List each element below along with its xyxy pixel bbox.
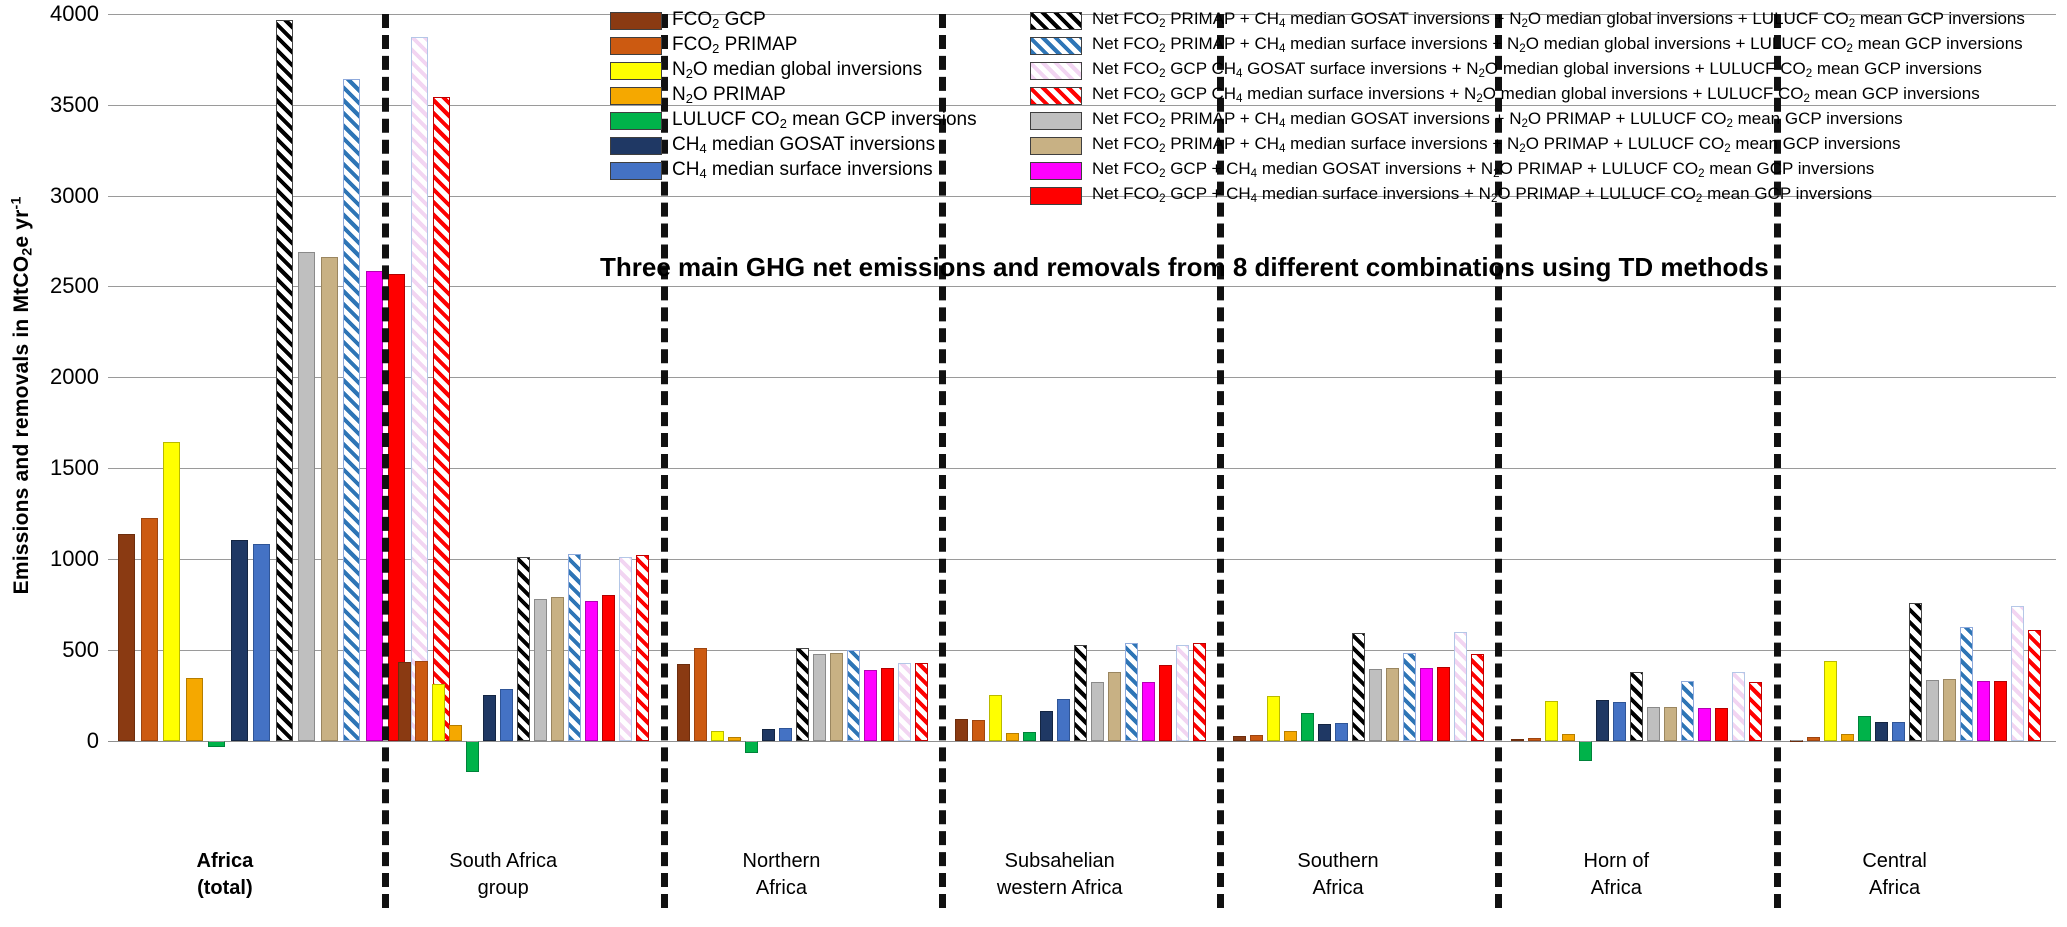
bar[interactable] bbox=[989, 695, 1002, 740]
bar[interactable] bbox=[915, 663, 928, 741]
bar[interactable] bbox=[1732, 672, 1745, 740]
legend-swatch-net4 bbox=[1030, 87, 1082, 105]
y-axis-title-sup: -1 bbox=[9, 196, 25, 209]
x-axis-label-5: Horn ofAfrica bbox=[1584, 848, 1650, 902]
bar[interactable] bbox=[677, 664, 690, 740]
legend-net-item-net3[interactable]: Net FCO2 GCP CH4 GOSAT surface inversion… bbox=[1030, 58, 2025, 83]
legend-net-item-net5[interactable]: Net FCO2 PRIMAP + CH4 median GOSAT inver… bbox=[1030, 108, 2025, 133]
bar[interactable] bbox=[1630, 672, 1643, 741]
bar[interactable] bbox=[847, 650, 860, 741]
bar[interactable] bbox=[1284, 731, 1297, 741]
y-tick-3500: 3500 bbox=[50, 92, 99, 118]
x-axis-label-4: SouthernAfrica bbox=[1297, 848, 1378, 902]
bar[interactable] bbox=[449, 725, 462, 740]
bar[interactable] bbox=[1233, 736, 1246, 741]
bar[interactable] bbox=[2011, 606, 2024, 740]
bar[interactable] bbox=[1176, 645, 1189, 740]
bar[interactable] bbox=[813, 654, 826, 740]
y-axis-title-text: Emissions and removals in MtCO bbox=[10, 255, 33, 594]
bar[interactable] bbox=[864, 670, 877, 741]
legend-label-net8: Net FCO2 GCP + CH4 median surface invers… bbox=[1092, 185, 1872, 205]
bar[interactable] bbox=[1074, 645, 1087, 740]
bar[interactable] bbox=[366, 271, 383, 741]
y-tick-0: 0 bbox=[87, 728, 99, 754]
legend-swatch-net7 bbox=[1030, 162, 1082, 180]
bar[interactable] bbox=[186, 678, 203, 741]
legend-label-net7: Net FCO2 GCP + CH4 median GOSAT inversio… bbox=[1092, 160, 1874, 180]
legend-primary-item-lulucf[interactable]: LULUCF CO2 mean GCP inversions bbox=[610, 108, 977, 133]
legend-swatch-lulucf bbox=[610, 112, 662, 130]
legend-label-net4: Net FCO2 GCP CH4 median surface inversio… bbox=[1092, 85, 1980, 105]
bar[interactable] bbox=[432, 684, 445, 740]
bar[interactable] bbox=[1715, 708, 1728, 741]
y-axis-title: Emissions and removals in MtCO2e yr-1 bbox=[2, 0, 42, 790]
legend-primary-item-n2oglobal[interactable]: N2O median global inversions bbox=[610, 58, 977, 83]
x-axis-label-2: NorthernAfrica bbox=[743, 848, 821, 902]
bar[interactable] bbox=[1250, 735, 1263, 740]
bar[interactable] bbox=[1528, 738, 1541, 741]
legend-primary-item-fco2gcp[interactable]: FCO2 GCP bbox=[610, 8, 977, 33]
legend-label-net6: Net FCO2 PRIMAP + CH4 median surface inv… bbox=[1092, 135, 1900, 155]
bar[interactable] bbox=[1909, 603, 1922, 740]
bar[interactable] bbox=[466, 741, 479, 773]
legend-net-combinations: Net FCO2 PRIMAP + CH4 median GOSAT inver… bbox=[1030, 8, 2025, 208]
legend-net-item-net4[interactable]: Net FCO2 GCP CH4 median surface inversio… bbox=[1030, 83, 2025, 108]
bar[interactable] bbox=[398, 662, 411, 741]
bar[interactable] bbox=[1926, 680, 1939, 741]
bar[interactable] bbox=[972, 720, 985, 741]
bar[interactable] bbox=[1824, 661, 1837, 741]
legend-swatch-n2oglobal bbox=[610, 62, 662, 80]
bar[interactable] bbox=[141, 518, 158, 741]
bar[interactable] bbox=[1875, 722, 1888, 741]
bar[interactable] bbox=[1108, 672, 1121, 741]
legend-swatch-ch4gosat bbox=[610, 137, 662, 155]
legend-label-ch4surface: CH4 median surface inversions bbox=[672, 160, 933, 181]
legend-swatch-net3 bbox=[1030, 62, 1082, 80]
bar[interactable] bbox=[298, 252, 315, 741]
bar[interactable] bbox=[1579, 741, 1592, 761]
bar[interactable] bbox=[1681, 681, 1694, 741]
y-tick-500: 500 bbox=[62, 637, 99, 663]
bar[interactable] bbox=[1471, 654, 1484, 740]
bar[interactable] bbox=[253, 544, 270, 740]
bar[interactable] bbox=[1301, 713, 1314, 740]
y-tick-2000: 2000 bbox=[50, 364, 99, 390]
legend-net-item-net8[interactable]: Net FCO2 GCP + CH4 median surface invers… bbox=[1030, 183, 2025, 208]
legend-primary-item-ch4surface[interactable]: CH4 median surface inversions bbox=[610, 158, 977, 183]
bar-group-0 bbox=[108, 14, 386, 786]
bar[interactable] bbox=[1369, 669, 1382, 741]
bar[interactable] bbox=[1352, 633, 1365, 741]
x-axis-labels: Africa(total)South AfricagroupNorthernAf… bbox=[108, 848, 2056, 918]
bar[interactable] bbox=[1664, 707, 1677, 741]
legend-net-item-net6[interactable]: Net FCO2 PRIMAP + CH4 median surface inv… bbox=[1030, 133, 2025, 158]
bar[interactable] bbox=[1807, 737, 1820, 741]
legend-label-fco2gcp: FCO2 GCP bbox=[672, 10, 766, 31]
bar[interactable] bbox=[1057, 699, 1070, 741]
group-divider-1 bbox=[382, 14, 389, 908]
legend-label-net2: Net FCO2 PRIMAP + CH4 median surface inv… bbox=[1092, 35, 2023, 55]
legend-swatch-net8 bbox=[1030, 187, 1082, 205]
bar[interactable] bbox=[585, 601, 598, 741]
bar[interactable] bbox=[1892, 722, 1905, 740]
legend-swatch-net1 bbox=[1030, 12, 1082, 30]
bar[interactable] bbox=[636, 555, 649, 740]
bar[interactable] bbox=[1023, 732, 1036, 741]
bar[interactable] bbox=[517, 557, 530, 740]
y-axis-title-mid: e yr bbox=[10, 209, 33, 247]
bar[interactable] bbox=[343, 79, 360, 740]
legend-swatch-n2oprimap bbox=[610, 87, 662, 105]
legend-label-lulucf: LULUCF CO2 mean GCP inversions bbox=[672, 110, 977, 131]
bar[interactable] bbox=[1698, 708, 1711, 741]
bar[interactable] bbox=[1318, 724, 1331, 740]
bar[interactable] bbox=[1040, 711, 1053, 741]
legend-primary-item-ch4gosat[interactable]: CH4 median GOSAT inversions bbox=[610, 133, 977, 158]
bar[interactable] bbox=[1943, 679, 1956, 741]
bar[interactable] bbox=[1193, 643, 1206, 740]
bar[interactable] bbox=[1790, 740, 1803, 742]
legend-net-item-net1[interactable]: Net FCO2 PRIMAP + CH4 median GOSAT inver… bbox=[1030, 8, 2025, 33]
legend-swatch-net5 bbox=[1030, 112, 1082, 130]
bar[interactable] bbox=[163, 442, 180, 741]
legend-net-item-net2[interactable]: Net FCO2 PRIMAP + CH4 median surface inv… bbox=[1030, 33, 2025, 58]
bar[interactable] bbox=[1749, 682, 1762, 741]
bar[interactable] bbox=[1335, 723, 1348, 740]
bar[interactable] bbox=[1091, 682, 1104, 740]
bar[interactable] bbox=[118, 534, 135, 740]
legend-primary-item-fco2primap[interactable]: FCO2 PRIMAP bbox=[610, 33, 977, 58]
bar[interactable] bbox=[728, 737, 741, 741]
bar[interactable] bbox=[1386, 668, 1399, 741]
legend-swatch-ch4surface bbox=[610, 162, 662, 180]
bar[interactable] bbox=[1647, 707, 1660, 741]
bar[interactable] bbox=[2028, 630, 2041, 741]
bar[interactable] bbox=[1159, 665, 1172, 740]
y-tick-1000: 1000 bbox=[50, 546, 99, 572]
bar[interactable] bbox=[711, 731, 724, 741]
bar[interactable] bbox=[500, 689, 513, 741]
bar[interactable] bbox=[1545, 701, 1558, 741]
legend-swatch-fco2primap bbox=[610, 37, 662, 55]
bar[interactable] bbox=[1420, 668, 1433, 741]
bar[interactable] bbox=[321, 257, 338, 741]
legend-label-n2oglobal: N2O median global inversions bbox=[672, 60, 922, 81]
y-axis-title-sub: 2 bbox=[19, 247, 35, 255]
bar[interactable] bbox=[1403, 653, 1416, 740]
bar[interactable] bbox=[568, 554, 581, 741]
legend-label-n2oprimap: N2O PRIMAP bbox=[672, 85, 786, 106]
y-tick-4000: 4000 bbox=[50, 1, 99, 27]
bar[interactable] bbox=[830, 653, 843, 740]
legend-label-net5: Net FCO2 PRIMAP + CH4 median GOSAT inver… bbox=[1092, 110, 1903, 130]
legend-label-net3: Net FCO2 GCP CH4 GOSAT surface inversion… bbox=[1092, 60, 1982, 80]
bar[interactable] bbox=[1562, 734, 1575, 740]
bar[interactable] bbox=[1267, 696, 1280, 741]
legend-label-fco2primap: FCO2 PRIMAP bbox=[672, 35, 797, 56]
y-tick-1500: 1500 bbox=[50, 455, 99, 481]
bar[interactable] bbox=[276, 20, 293, 740]
bar[interactable] bbox=[1596, 700, 1609, 741]
bar[interactable] bbox=[415, 661, 428, 741]
bar[interactable] bbox=[231, 540, 248, 741]
bar[interactable] bbox=[779, 728, 792, 741]
x-axis-label-3: Subsahelianwestern Africa bbox=[997, 848, 1123, 902]
bar[interactable] bbox=[1841, 734, 1854, 740]
chart-title: Three main GHG net emissions and removal… bbox=[600, 252, 1600, 283]
legend-swatch-net2 bbox=[1030, 37, 1082, 55]
bar[interactable] bbox=[619, 557, 632, 740]
legend-swatch-net6 bbox=[1030, 137, 1082, 155]
bar[interactable] bbox=[551, 597, 564, 741]
legend-net-item-net7[interactable]: Net FCO2 GCP + CH4 median GOSAT inversio… bbox=[1030, 158, 2025, 183]
legend-label-ch4gosat: CH4 median GOSAT inversions bbox=[672, 135, 935, 156]
legend-label-net1: Net FCO2 PRIMAP + CH4 median GOSAT inver… bbox=[1092, 10, 2025, 30]
x-axis-label-1: South Africagroup bbox=[449, 848, 557, 902]
bar[interactable] bbox=[1977, 681, 1990, 741]
bar[interactable] bbox=[1994, 681, 2007, 741]
bar[interactable] bbox=[1613, 702, 1626, 741]
bar[interactable] bbox=[955, 719, 968, 741]
bar[interactable] bbox=[1437, 667, 1450, 741]
x-axis-label-0: Africa(total) bbox=[197, 848, 254, 902]
bar[interactable] bbox=[1006, 733, 1019, 740]
bar[interactable] bbox=[1960, 627, 1973, 741]
bar[interactable] bbox=[602, 595, 615, 740]
bar[interactable] bbox=[1125, 643, 1138, 741]
legend-primary: FCO2 GCPFCO2 PRIMAPN2O median global inv… bbox=[610, 8, 977, 183]
bar[interactable] bbox=[208, 741, 225, 747]
bar[interactable] bbox=[1142, 682, 1155, 740]
bar[interactable] bbox=[762, 729, 775, 741]
bar[interactable] bbox=[1454, 632, 1467, 741]
bar[interactable] bbox=[898, 663, 911, 740]
legend-swatch-fco2gcp bbox=[610, 12, 662, 30]
bar[interactable] bbox=[534, 599, 547, 741]
bar[interactable] bbox=[483, 695, 496, 740]
y-tick-2500: 2500 bbox=[50, 273, 99, 299]
bar[interactable] bbox=[1511, 739, 1524, 741]
bar[interactable] bbox=[1858, 716, 1871, 741]
bar[interactable] bbox=[881, 668, 894, 741]
y-tick-3000: 3000 bbox=[50, 183, 99, 209]
x-axis-label-6: CentralAfrica bbox=[1862, 848, 1926, 902]
bar[interactable] bbox=[796, 648, 809, 741]
bar[interactable] bbox=[694, 648, 707, 741]
legend-primary-item-n2oprimap[interactable]: N2O PRIMAP bbox=[610, 83, 977, 108]
bar[interactable] bbox=[745, 741, 758, 754]
